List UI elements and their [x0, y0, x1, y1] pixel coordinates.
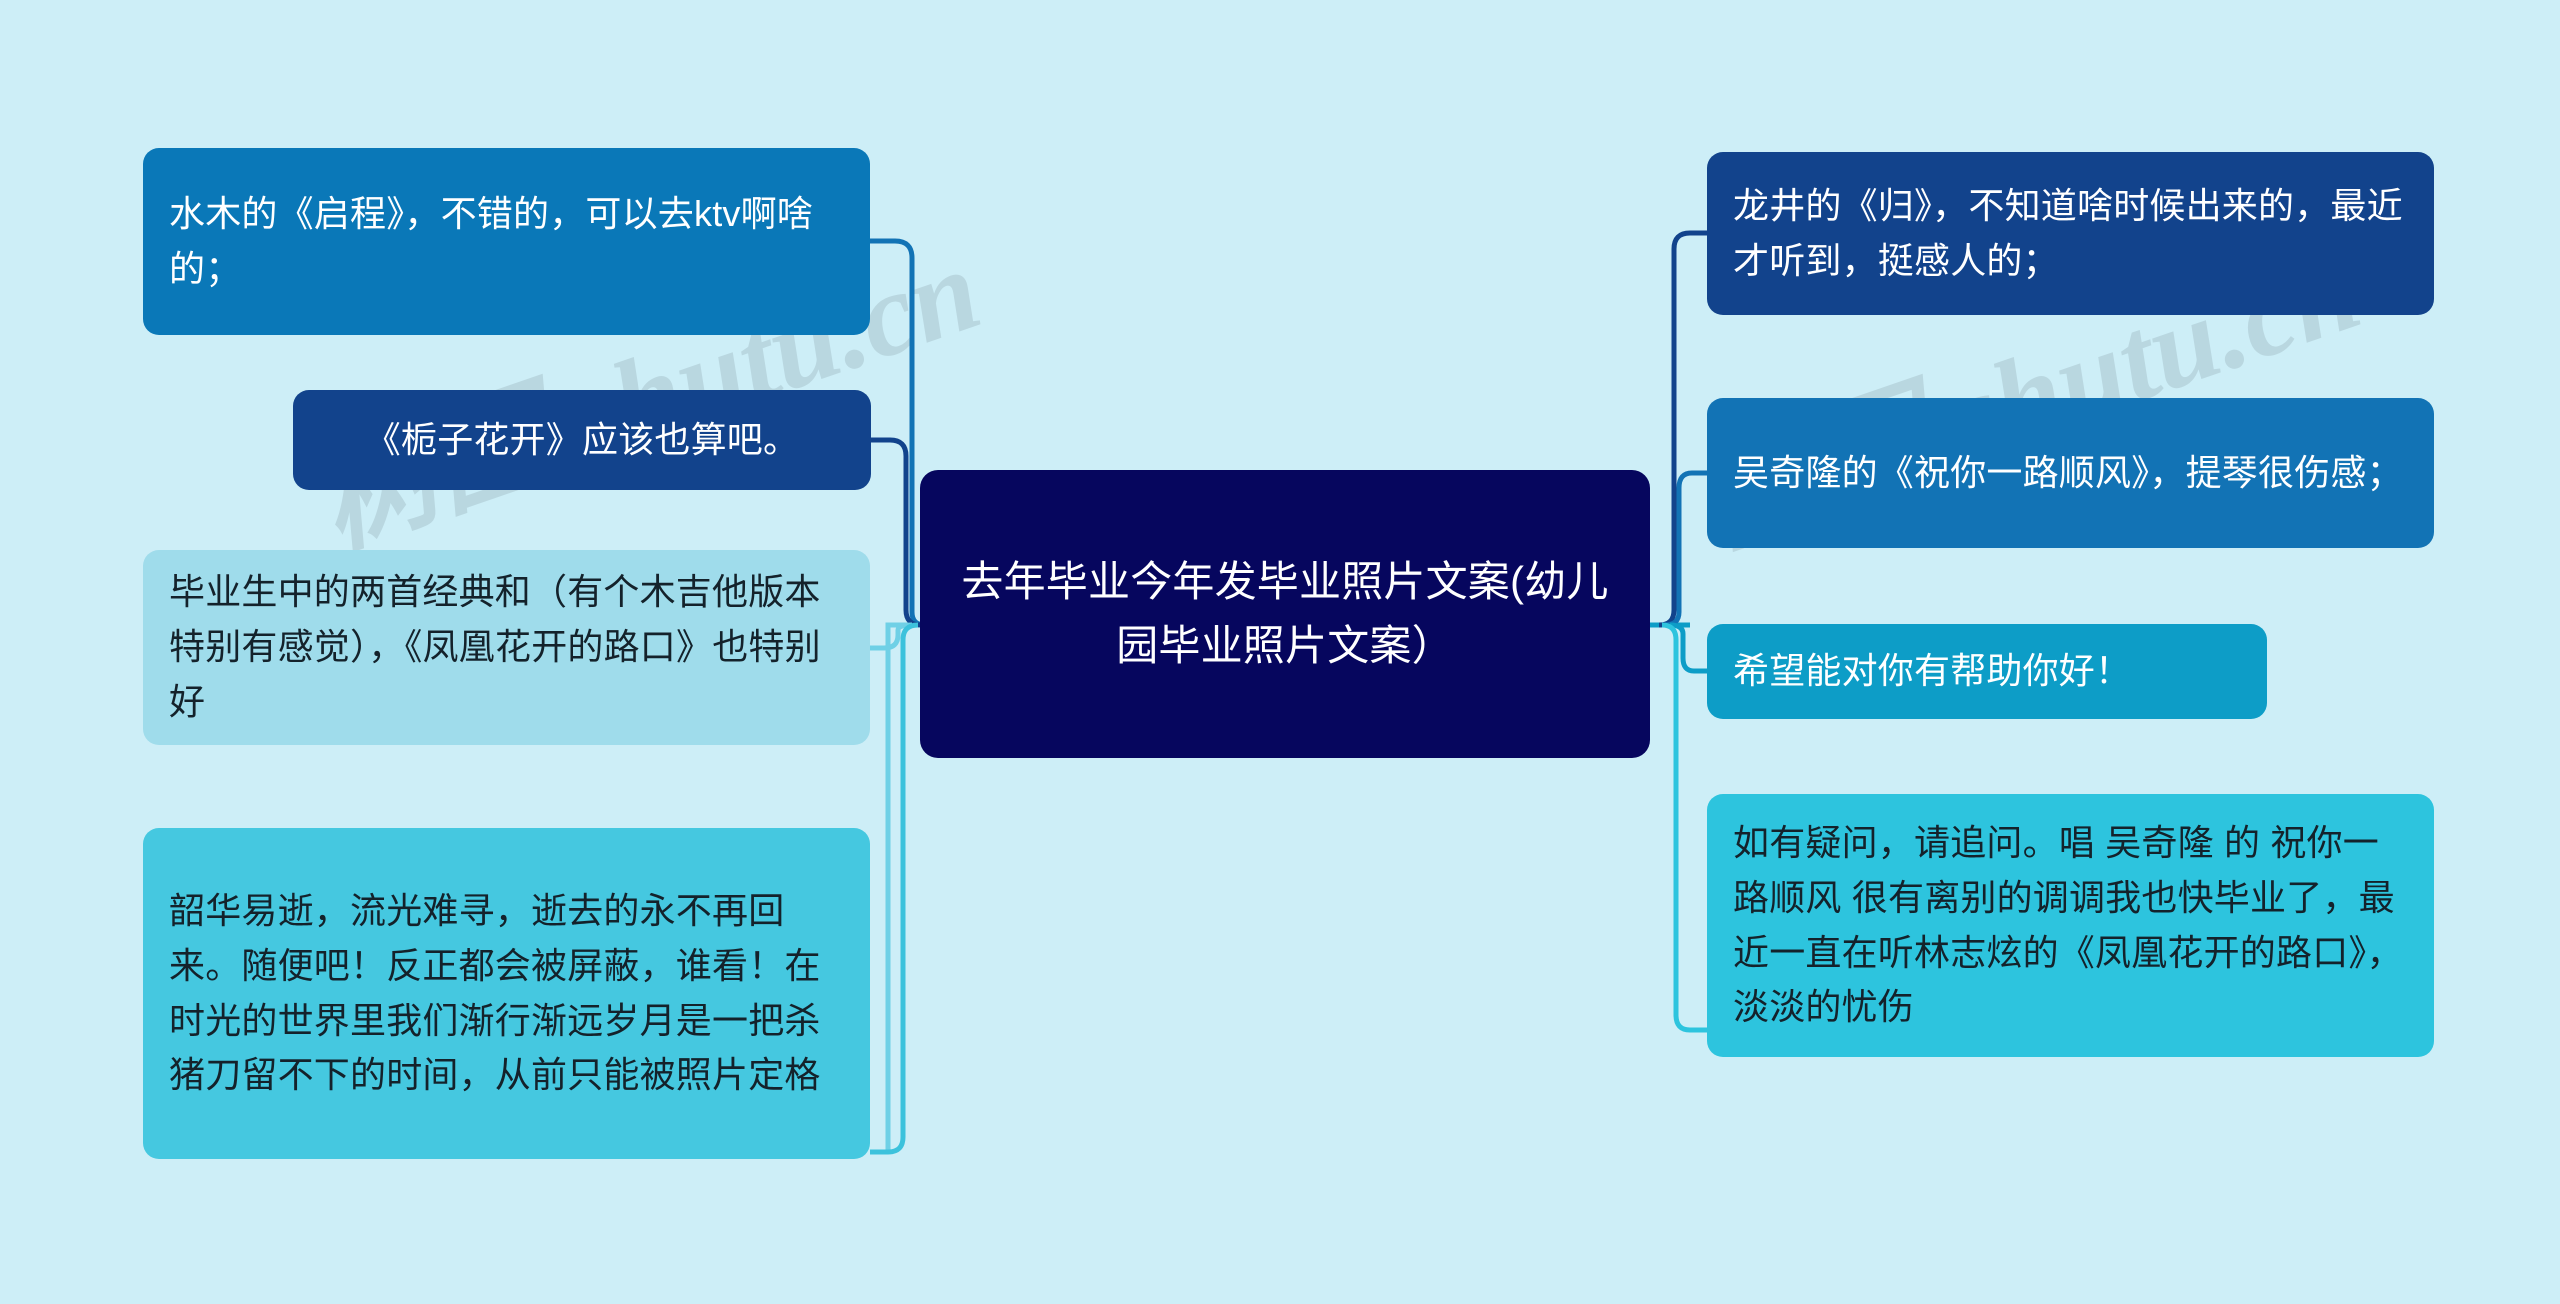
mindmap-node-left-4[interactable]: 韶华易逝，流光难寻，逝去的永不再回来。随便吧！反正都会被屏蔽，谁看！在时光的世界… — [143, 828, 870, 1159]
connector-right-3 — [1670, 625, 1707, 671]
node-text: 毕业生中的两首经典和（有个木吉他版本特别有感觉），《凤凰花开的路口》也特别好 — [169, 565, 844, 729]
node-text: 希望能对你有帮助你好！ — [1733, 644, 2241, 699]
mindmap-node-right-4[interactable]: 如有疑问，请追问。唱 吴奇隆 的 祝你一路顺风 很有离别的调调我也快毕业了，最近… — [1707, 794, 2434, 1057]
connector-left-3 — [870, 625, 912, 648]
node-text: 吴奇隆的《祝你一路顺风》，提琴很伤感； — [1733, 446, 2408, 501]
connector-left-1 — [870, 241, 925, 625]
node-text: 去年毕业今年发毕业照片文案(幼儿园毕业照片文案） — [950, 550, 1620, 678]
mindmap-node-right-1[interactable]: 龙井的《归》，不知道啥时候出来的，最近才听到，挺感人的； — [1707, 152, 2434, 315]
connector-right-1 — [1659, 233, 1707, 625]
mindmap-node-center[interactable]: 去年毕业今年发毕业照片文案(幼儿园毕业照片文案） — [920, 470, 1650, 758]
connector-left-4 — [870, 625, 918, 1152]
connector-left-2 — [871, 440, 921, 625]
mindmap-node-right-3[interactable]: 希望能对你有帮助你好！ — [1707, 624, 2267, 719]
mindmap-node-left-3[interactable]: 毕业生中的两首经典和（有个木吉他版本特别有感觉），《凤凰花开的路口》也特别好 — [143, 550, 870, 745]
mindmap-node-left-2[interactable]: 《栀子花开》应该也算吧。 — [293, 390, 871, 490]
node-text: 《栀子花开》应该也算吧。 — [319, 413, 845, 468]
mindmap-node-left-1[interactable]: 水木的《启程》，不错的，可以去ktv啊啥的； — [143, 148, 870, 335]
connector-right-4 — [1662, 625, 1707, 1030]
node-text: 龙井的《归》，不知道啥时候出来的，最近才听到，挺感人的； — [1733, 179, 2408, 288]
node-text: 韶华易逝，流光难寻，逝去的永不再回来。随便吧！反正都会被屏蔽，谁看！在时光的世界… — [169, 884, 844, 1103]
mindmap-canvas: 树图 shutu.cn 树图 shutu.cn 水木的《启程》，不错的，可以去k… — [0, 0, 2560, 1304]
node-text: 如有疑问，请追问。唱 吴奇隆 的 祝你一路顺风 很有离别的调调我也快毕业了，最近… — [1733, 816, 2408, 1035]
mindmap-node-right-2[interactable]: 吴奇隆的《祝你一路顺风》，提琴很伤感； — [1707, 398, 2434, 548]
connector-left-trunk — [888, 625, 920, 1152]
connector-right-2 — [1665, 473, 1707, 625]
node-text: 水木的《启程》，不错的，可以去ktv啊啥的； — [169, 187, 844, 296]
